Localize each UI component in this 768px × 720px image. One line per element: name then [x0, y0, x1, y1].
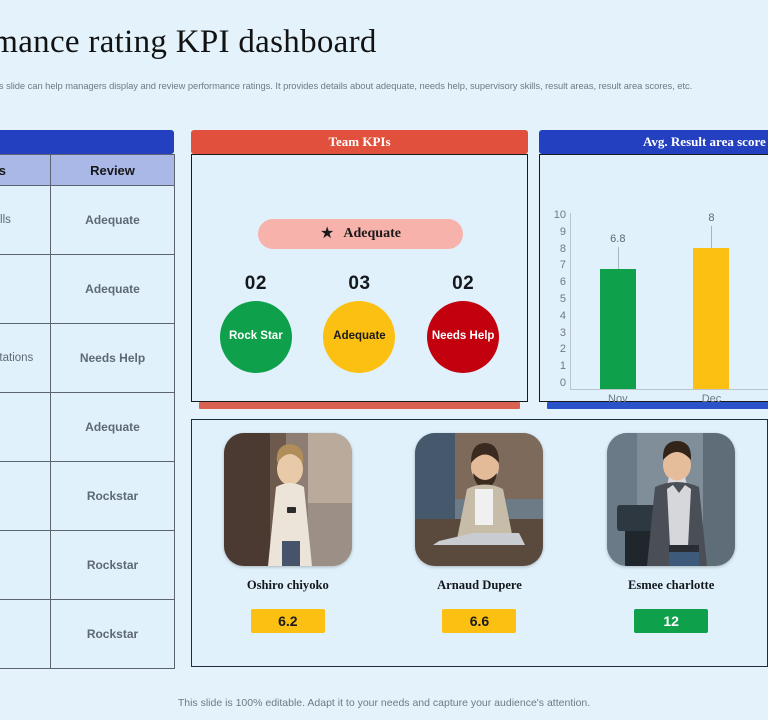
avatar: [415, 433, 543, 566]
table-row: QualityAdequate: [0, 393, 175, 462]
table-row: KnowledgeRockstar: [0, 600, 175, 669]
result-areas-panel: Result Areas Result Areas Review Supervi…: [0, 130, 174, 669]
cell-review-status: Adequate: [51, 186, 175, 255]
chart-header: Avg. Result area score: [539, 130, 768, 154]
table-row: Adequate: [0, 255, 175, 324]
score-badge-wrapper: 6.6: [399, 609, 559, 633]
y-tick-label: 7: [560, 261, 566, 269]
bar-leader-line: [618, 247, 619, 269]
employee-name: Oshiro chiyoko: [208, 578, 368, 593]
score-badge-wrapper: 6.2: [208, 609, 368, 633]
cell-result-area: Attendance: [0, 462, 51, 531]
kpi-count: 02: [210, 273, 302, 295]
kpi-circle[interactable]: Adequate: [323, 301, 395, 373]
chart-bars: 6.889.5: [571, 213, 768, 389]
employee-profiles-panel: Oshiro chiyoko6.2 Arnaud Dupere6.6: [191, 419, 768, 667]
employee-score-badge: 12: [634, 609, 708, 633]
cell-result-area: Knowledge: [0, 600, 51, 669]
avatar: [607, 433, 735, 566]
y-tick-label: 3: [560, 329, 566, 337]
y-tick-label: 6: [560, 278, 566, 286]
bar-chart: 109876543210 6.889.5 NovDecJan: [540, 155, 768, 401]
employee-name: Esmee charlotte: [591, 578, 751, 593]
bar-group: 9.5: [761, 213, 768, 389]
cell-review-status: Rockstar: [51, 531, 175, 600]
adequate-badge-label: Adequate: [343, 226, 401, 242]
bar-leader-line: [711, 226, 712, 248]
kpi-count: 02: [417, 273, 509, 295]
cell-review-status: Rockstar: [51, 600, 175, 669]
employee-score-badge: 6.2: [251, 609, 325, 633]
team-kpis-header: Team KPIs: [191, 130, 528, 154]
column-header-area: Result Areas: [0, 155, 51, 186]
y-tick-label: 8: [560, 245, 566, 253]
bar-value-label: 8: [708, 212, 714, 224]
team-kpis-body: ★ Adequate 02Rock Star03Adequate02Needs …: [191, 154, 528, 402]
star-icon: ★: [320, 226, 334, 242]
result-areas-table: Result Areas Review Supervisory skillsAd…: [0, 154, 175, 669]
bar-group: 6.8: [574, 213, 662, 389]
cell-result-area: Supervisory skills: [0, 186, 51, 255]
cell-result-area: Initiative: [0, 531, 51, 600]
cell-result-area: Quality: [0, 393, 51, 462]
result-areas-header: Result Areas: [0, 130, 174, 154]
employee-profile-card[interactable]: Oshiro chiyoko6.2: [208, 433, 368, 633]
page-title: Performance rating KPI dashboard: [0, 24, 528, 61]
y-tick-label: 0: [560, 379, 566, 387]
kpi-metric[interactable]: 02Rock Star: [210, 273, 302, 373]
kpi-metric[interactable]: 03Adequate: [313, 273, 405, 373]
kpi-metric-row: 02Rock Star03Adequate02Needs Help: [192, 273, 527, 373]
table-row: InitiativeRockstar: [0, 531, 175, 600]
cell-review-status: Needs Help: [51, 324, 175, 393]
x-axis-line: [570, 389, 768, 390]
column-header-review: Review: [51, 155, 175, 186]
avatar: [224, 433, 352, 566]
avg-result-area-score-panel: Avg. Result area score 109876543210 6.88…: [539, 130, 768, 409]
bar-group: 8: [667, 213, 755, 389]
chart-bar[interactable]: [600, 269, 636, 389]
table-header-row: Result Areas Review: [0, 155, 175, 186]
x-axis-ticks: NovDecJan: [571, 393, 768, 405]
bar-value-label: 6.8: [610, 233, 625, 245]
page-subtitle: This slide can help managers display and…: [0, 80, 768, 91]
chart-bar[interactable]: [693, 248, 729, 389]
cell-result-area: Performance expectations: [0, 324, 51, 393]
y-tick-label: 10: [554, 211, 566, 219]
slide-canvas: Performance rating KPI dashboard This sl…: [0, 0, 768, 720]
kpi-metric[interactable]: 02Needs Help: [417, 273, 509, 373]
y-tick-label: 4: [560, 312, 566, 320]
cell-review-status: Adequate: [51, 255, 175, 324]
y-tick-label: 2: [560, 345, 566, 353]
result-areas-body: Supervisory skillsAdequateAdequatePerfor…: [0, 186, 175, 669]
x-tick-label: Dec: [667, 393, 755, 405]
x-tick-label: Nov: [574, 393, 662, 405]
employee-profile-card[interactable]: Esmee charlotte12: [591, 433, 751, 633]
y-tick-label: 5: [560, 295, 566, 303]
team-kpis-panel: Team KPIs ★ Adequate 02Rock Star03Adequa…: [191, 130, 528, 409]
cell-result-area: [0, 255, 51, 324]
score-badge-wrapper: 12: [591, 609, 751, 633]
table-row: AttendanceRockstar: [0, 462, 175, 531]
cell-review-status: Adequate: [51, 393, 175, 462]
table-row: Performance expectationsNeeds Help: [0, 324, 175, 393]
chart-body: 109876543210 6.889.5 NovDecJan: [539, 154, 768, 402]
employee-profile-card[interactable]: Arnaud Dupere6.6: [399, 433, 559, 633]
y-tick-label: 9: [560, 228, 566, 236]
kpi-circle[interactable]: Needs Help: [427, 301, 499, 373]
kpi-count: 03: [313, 273, 405, 295]
kpi-circle[interactable]: Rock Star: [220, 301, 292, 373]
cell-review-status: Rockstar: [51, 462, 175, 531]
team-kpis-accent-bar: [199, 402, 520, 409]
slide-footer-note: This slide is 100% editable. Adapt it to…: [0, 697, 768, 709]
y-tick-label: 1: [560, 362, 566, 370]
x-tick-label: Jan: [761, 393, 768, 405]
y-axis-ticks: 109876543210: [544, 211, 566, 387]
employee-score-badge: 6.6: [442, 609, 516, 633]
table-row: Supervisory skillsAdequate: [0, 186, 175, 255]
adequate-badge[interactable]: ★ Adequate: [258, 219, 463, 249]
employee-name: Arnaud Dupere: [399, 578, 559, 593]
